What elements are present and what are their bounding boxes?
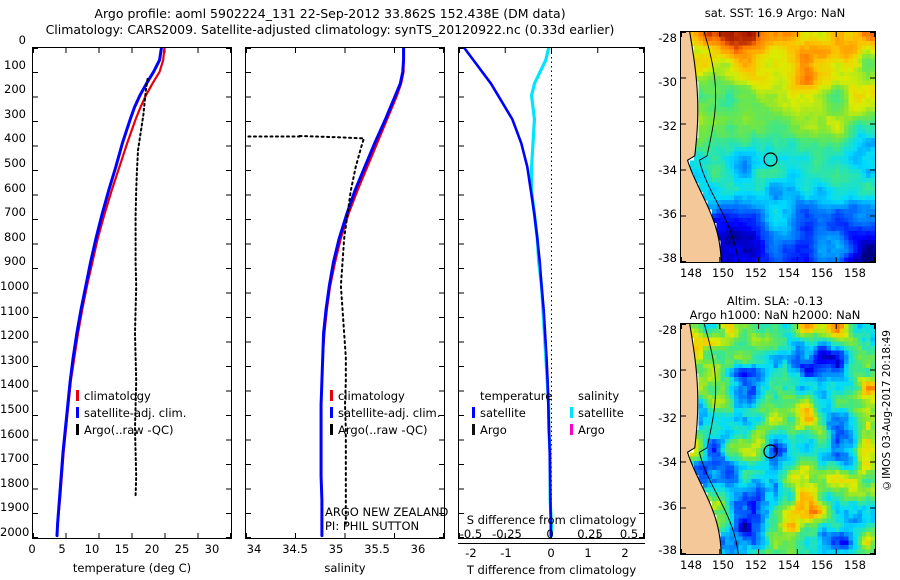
legend-item: satellite-adj. clim.	[76, 406, 186, 420]
legend-swatch-satellite	[76, 407, 79, 418]
sla-map-ylabels: -28 -30 -32 -34 -36 -38	[655, 330, 679, 552]
legend-swatch-temp-argo	[472, 424, 475, 435]
legend-group-title-salinity: salinity	[578, 389, 624, 403]
sla-map	[680, 323, 876, 555]
legend-item: satellite	[472, 406, 552, 420]
argo-program-annotation-line2: PI: PHIL SUTTON	[325, 519, 419, 533]
sst-map-title: sat. SST: 16.9 Argo: NaN	[660, 6, 890, 20]
legend-item: climatology	[76, 389, 186, 403]
page-title-line1: Argo profile: aoml 5902224_131 22-Sep-20…	[0, 6, 660, 21]
difference-panel	[458, 47, 645, 539]
legend-swatch-climatology	[76, 390, 79, 401]
sst-map-ylabels: -28 -30 -32 -34 -36 -38	[655, 38, 679, 260]
sla-map-title-line1: Altim. SLA: -0.13	[660, 294, 890, 308]
legend-item: satellite	[570, 406, 624, 420]
salinity-axis-label: salinity	[245, 561, 445, 575]
salinity-difference-label: S difference from climatology	[458, 513, 645, 527]
temperature-legend: climatology satellite-adj. clim. Argo(..…	[76, 389, 186, 437]
legend-swatch-satellite	[330, 407, 333, 418]
legend-swatch-climatology	[330, 390, 333, 401]
temperature-difference-label: T difference from climatology	[450, 563, 653, 577]
legend-group-title-temperature: temperature	[480, 389, 552, 403]
copyright-label: ©IMOS 03-Aug-2017 20:18:49	[881, 330, 893, 491]
difference-legend-salinity: salinity satellite Argo	[570, 389, 624, 437]
legend-swatch-argo	[330, 424, 333, 435]
legend-swatch-argo	[76, 424, 79, 435]
legend-swatch-sal-argo	[570, 424, 573, 435]
legend-item: Argo	[472, 423, 552, 437]
difference-axis-divider	[458, 543, 645, 544]
legend-item: climatology	[330, 389, 440, 403]
sst-map	[680, 31, 876, 263]
legend-item: Argo	[570, 423, 624, 437]
legend-swatch-sal-satellite	[570, 407, 573, 418]
legend-item: Argo(..raw -QC)	[76, 423, 186, 437]
argo-program-annotation-line1: ARGO NEW ZEALAND	[325, 505, 448, 519]
legend-swatch-temp-satellite	[472, 407, 475, 418]
temperature-panel	[32, 47, 232, 539]
legend-item: Argo(..raw -QC)	[330, 423, 440, 437]
salinity-legend: climatology satellite-adj. clim. Argo(..…	[330, 389, 440, 437]
difference-legend: temperature satellite Argo	[472, 389, 552, 437]
salinity-panel	[245, 47, 445, 539]
depth-axis-labels: 0 100 200 300 400 500 600 700 800 900 10…	[0, 40, 30, 540]
sla-map-title-line2: Argo h1000: NaN h2000: NaN	[655, 308, 895, 322]
legend-item: satellite-adj. clim.	[330, 406, 440, 420]
page-title-line2: Climatology: CARS2009. Satellite-adjuste…	[0, 22, 660, 37]
temperature-axis-label: temperature (deg C)	[32, 561, 232, 575]
